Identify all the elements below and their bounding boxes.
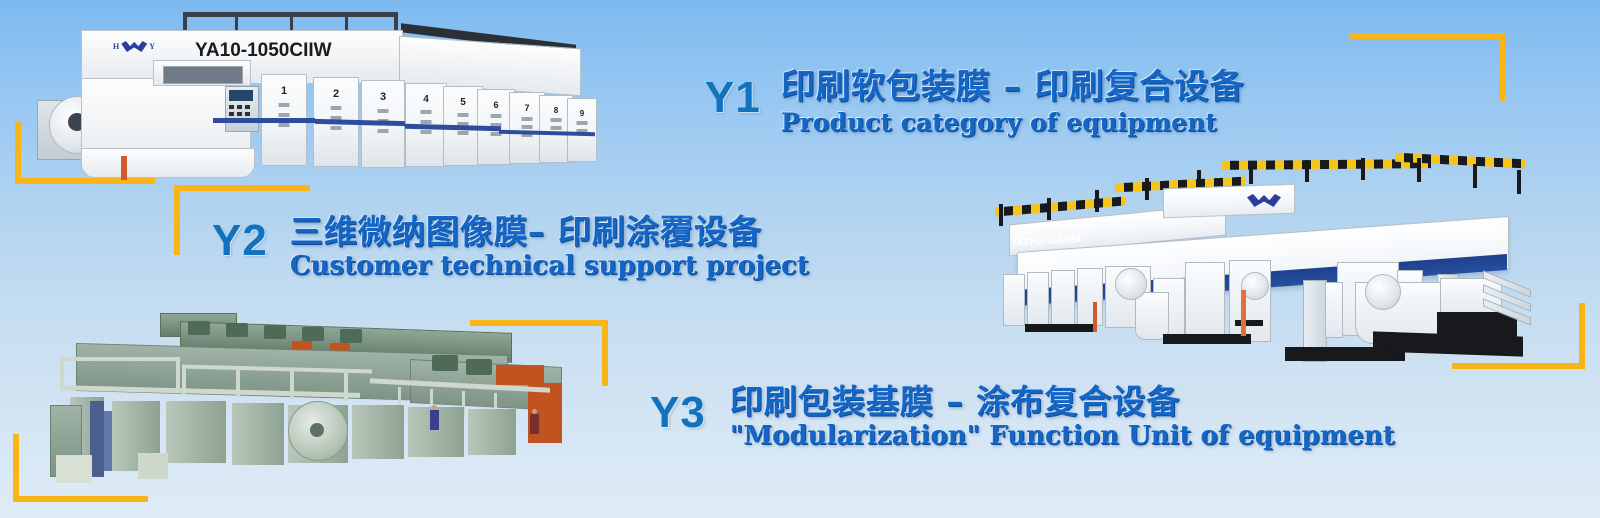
machine-model-label-1: YA10-1050CIIW — [195, 40, 332, 62]
entry-title-cn-y2: 三维微纳图像膜– 印刷涂覆设备 — [290, 215, 809, 250]
print-unit: 9 — [567, 98, 597, 162]
bracket-y1-vertical — [1499, 33, 1505, 101]
worker-figure — [430, 405, 439, 430]
brand-logo-hy: HY — [113, 41, 155, 52]
bracket-y2-horizontal — [174, 185, 310, 191]
entry-title-cn-y1: 印刷软包装膜 – 印刷复合设备 — [781, 70, 1245, 106]
machine-coating-laminating: YATFG-1650BⅡ — [985, 152, 1530, 357]
entry-title-en-y2: Customer technical support project — [290, 253, 809, 280]
entry-y1: Y1 印刷软包装膜 – 印刷复合设备 Product category of e… — [705, 70, 1245, 136]
brand-logo-hy-2 — [1247, 194, 1281, 207]
entry-code-y2: Y2 — [212, 219, 268, 263]
bracket-y1-lower-vertical — [15, 122, 21, 184]
bracket-y2-vertical — [174, 185, 180, 255]
entry-title-en-y1: Product category of equipment — [781, 110, 1245, 136]
product-category-banner: HY YA10-1050CIIW 1 2 — [0, 0, 1600, 518]
entry-title-en-y3: "Modularization" Function Unit of equipm… — [730, 423, 1395, 450]
bracket-y3-vertical — [602, 320, 608, 386]
unit-number: 3 — [380, 91, 386, 103]
bracket-y1-horizontal — [1350, 33, 1505, 39]
unit-number: 2 — [333, 88, 339, 100]
unit-number: 8 — [554, 106, 558, 115]
bracket-right-vertical — [1579, 303, 1585, 369]
bracket-bottom-left-vertical — [13, 434, 19, 502]
entry-code-y1: Y1 — [705, 76, 761, 120]
entry-y2: Y2 三维微纳图像膜– 印刷涂覆设备 Customer technical su… — [212, 215, 809, 280]
unit-number: 4 — [423, 94, 429, 105]
unit-number: 1 — [281, 85, 287, 97]
unit-number: 7 — [524, 103, 529, 113]
unit-number: 6 — [493, 100, 498, 110]
entry-title-cn-y3: 印刷包装基膜 – 涂布复合设备 — [730, 385, 1395, 420]
unit-number: 9 — [580, 109, 584, 118]
bracket-bottom-left-horizontal — [13, 496, 148, 502]
machine-base-film-coating-line — [30, 305, 575, 485]
machine-rotogravure-printing-press: HY YA10-1050CIIW 1 2 — [35, 8, 595, 180]
bracket-right-horizontal — [1452, 363, 1585, 369]
entry-code-y3: Y3 — [650, 391, 706, 435]
unit-number: 5 — [460, 97, 466, 108]
worker-figure — [530, 409, 539, 434]
entry-y3: Y3 印刷包装基膜 – 涂布复合设备 "Modularization" Func… — [650, 385, 1395, 450]
